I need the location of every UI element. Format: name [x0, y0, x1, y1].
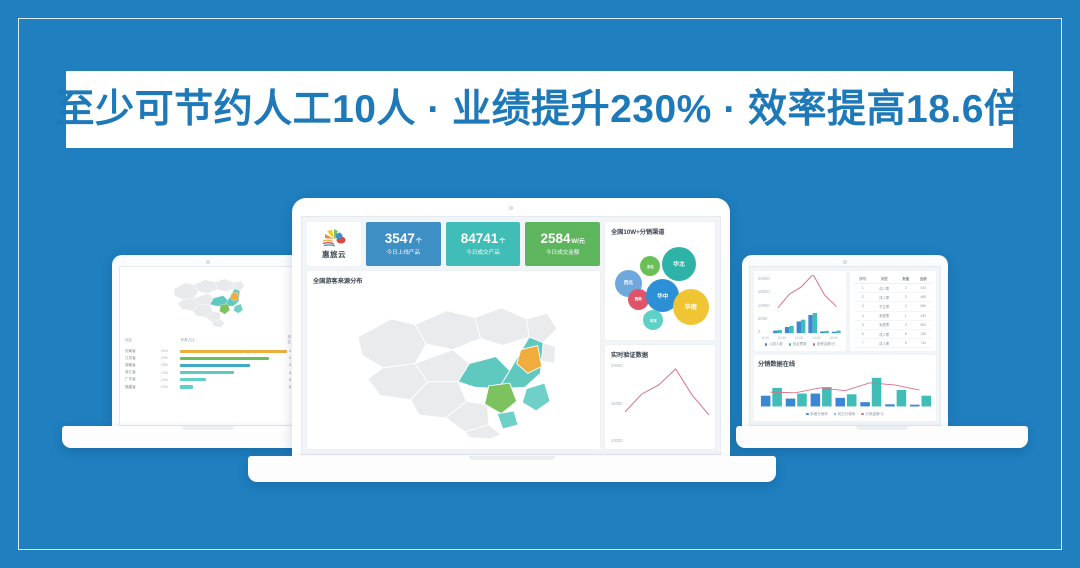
kpi-unit: W/元: [572, 239, 585, 245]
region-pct: 15%: [161, 376, 181, 383]
left-region-ranking-table: 地区 来源占比 排名 河南省20%1江苏省20%2湖南省20%3浙江省15%4广…: [125, 335, 291, 421]
table-column-header: 序号: [854, 274, 871, 284]
region-name: 浙江省: [125, 369, 161, 376]
table-header-row: 序号类型数量金额: [854, 274, 932, 284]
bubble-5[interactable]: 华南: [673, 289, 709, 325]
cell-type: 学生票: [871, 302, 897, 311]
distribution-legend: 新增分销商成交分销商分销金额/元: [758, 412, 932, 417]
cell-amt: 710: [914, 339, 932, 348]
center-laptop-lid: 惠旅云 3547个今日上线产品84741个今日成交产品2584W/元今日成交金额…: [292, 198, 730, 460]
kpi-card-1: 84741个今日成交产品: [446, 222, 521, 266]
right-laptop-screen: 20000150001000050000 8:0010:0012:0014:00…: [749, 266, 941, 426]
cell-no: 6: [854, 329, 871, 338]
region-name: 广东省: [125, 376, 161, 383]
table-row: 7成人票6710: [854, 339, 932, 348]
pinwheel-logo-icon: [319, 228, 349, 248]
x-tick: 16:00: [829, 336, 838, 340]
kpi-label: 今日成交金额: [546, 248, 580, 256]
y-tick: 10000: [758, 303, 770, 308]
combo-x-axis: 8:0010:0012:0014:0016:00: [758, 336, 842, 340]
region-bar: [180, 371, 234, 374]
cell-type: 成人票: [871, 329, 897, 338]
kpi-unit: 个: [499, 239, 505, 245]
cell-no: 3: [854, 302, 871, 311]
table-row: 5家庭票2500: [854, 320, 932, 329]
trackpad-notch: [469, 456, 555, 460]
cell-amt: 460: [914, 293, 932, 302]
col-region: 地区: [125, 335, 161, 348]
map-region-green: [484, 383, 516, 414]
table-row: 福建省15%6: [125, 383, 291, 390]
cell-no: 7: [854, 339, 871, 348]
map-region-teal-3: [522, 383, 550, 411]
cell-amt: 500: [914, 320, 932, 329]
table-row: 广东省15%5: [125, 376, 291, 383]
bubble-6[interactable]: 华东: [643, 310, 663, 330]
x-tick: 12:00: [795, 336, 804, 340]
cell-qty: 6: [897, 339, 914, 348]
y-tick: 20000: [611, 363, 623, 368]
region-rank: 2: [287, 355, 291, 362]
cell-amt: 432: [914, 311, 932, 320]
region-bar-cell: [180, 355, 287, 362]
cell-type: 家庭票: [871, 320, 897, 329]
region-pct: 15%: [161, 383, 181, 390]
center-laptop: 惠旅云 3547个今日上线产品84741个今日成交产品2584W/元今日成交金额…: [292, 198, 730, 460]
realtime-verification-panel: 实时验证数据 200001500010000: [605, 345, 715, 449]
kpi-value: 84741个: [461, 232, 506, 246]
dashboard-main-column: 惠旅云 3547个今日上线产品84741个今日成交产品2584W/元今日成交金额…: [307, 222, 600, 449]
cell-amt: 560: [914, 302, 932, 311]
cell-type: 家庭票: [871, 311, 897, 320]
kpi-value: 3547个: [385, 232, 422, 246]
region-name: 福建省: [125, 383, 161, 390]
laptop-mockup-stage: 地区 来源占比 排名 河南省20%1江苏省20%2湖南省20%3浙江省15%4广…: [0, 160, 1080, 510]
cell-type: 成人票: [871, 284, 897, 293]
table-body: 1成人票24102成人票34603学生票25604家庭票14325家庭票2500…: [854, 284, 932, 348]
left-laptop-lid: 地区 来源占比 排名 河南省20%1江苏省20%2湖南省20%3浙江省15%4广…: [112, 255, 304, 430]
ticket-detail-table: 序号类型数量金额 1成人票24102成人票34603学生票25604家庭票143…: [850, 271, 936, 351]
kpi-label: 今日上线产品: [387, 248, 421, 256]
region-rank: 1: [287, 348, 291, 355]
realtime-plot-area: [625, 362, 709, 444]
distribution-plot-area: [758, 371, 932, 410]
y-tick: 20000: [758, 276, 770, 281]
table-column-header: 数量: [897, 274, 914, 284]
region-bar-cell: [180, 376, 287, 383]
left-laptop-screen: 地区 来源占比 排名 河南省20%1江苏省20%2湖南省20%3浙江省15%4广…: [119, 266, 297, 426]
table-row: 4家庭票1432: [854, 311, 932, 320]
x-tick: 10:00: [777, 336, 786, 340]
region-bar-cell: [180, 348, 287, 355]
region-rank: 4: [287, 369, 291, 376]
y-tick: 15000: [611, 401, 623, 406]
left-laptop: 地区 来源占比 排名 河南省20%1江苏省20%2湖南省20%3浙江省15%4广…: [112, 255, 304, 430]
realtime-chart: 200001500010000: [611, 362, 709, 444]
distribution-panel-title: 分销数据在线: [758, 359, 932, 368]
region-name: 江苏省: [125, 355, 161, 362]
combo-y-axis: 20000150001000050000: [758, 275, 770, 335]
kpi-card-2: 2584W/元今日成交金额: [525, 222, 600, 266]
x-tick: 14:00: [812, 336, 821, 340]
dashboard-header: 惠旅云 3547个今日上线产品84741个今日成交产品2584W/元今日成交金额: [307, 222, 600, 266]
right-laptop-lid: 20000150001000050000 8:0010:0012:0014:00…: [742, 255, 948, 430]
table-column-header: 类型: [871, 274, 897, 284]
region-bar-cell: [180, 362, 287, 369]
webcam-icon: [843, 260, 847, 264]
cell-qty: 2: [897, 302, 914, 311]
col-rank: 排名: [287, 335, 291, 348]
trackpad-notch: [182, 426, 234, 430]
legend-item[interactable]: 成交分销商: [834, 412, 856, 417]
cell-qty: 3: [897, 293, 914, 302]
region-pct: 15%: [161, 369, 181, 376]
trackpad-notch: [856, 426, 908, 430]
cell-qty: 2: [897, 284, 914, 293]
headline-text: 至少可节约人工10人 · 业绩提升230% · 效率提高18.6倍: [56, 90, 1024, 129]
cell-no: 4: [854, 311, 871, 320]
park-combo-chart-panel: 20000150001000050000 8:0010:0012:0014:00…: [754, 271, 846, 351]
table-header-row: 地区 来源占比 排名: [125, 335, 291, 348]
ranking-rows: 河南省20%1江苏省20%2湖南省20%3浙江省15%4广东省15%5福建省15…: [125, 348, 291, 391]
region-rank: 3: [287, 362, 291, 369]
left-china-map: [125, 271, 291, 331]
webcam-icon: [509, 206, 513, 210]
china-map: [313, 288, 594, 444]
table-row: 湖南省20%3: [125, 362, 291, 369]
legend-item[interactable]: 入园人数: [765, 342, 783, 347]
bubble-chart: 华北东北西北西南华中华南华东: [611, 239, 709, 335]
headline-banner: 至少可节约人工10人 · 业绩提升230% · 效率提高18.6倍: [66, 71, 1013, 148]
map-panel-title: 全国游客来源分布: [313, 276, 594, 285]
right-top-row: 20000150001000050000 8:0010:0012:0014:00…: [754, 271, 936, 351]
map-highlight-green: [219, 304, 229, 314]
dashboard-side-column: 全国10W+分销渠道 华北东北西北西南华中华南华东 实时验证数据 2000015…: [605, 222, 715, 449]
legend-item[interactable]: 新增分销商: [806, 412, 828, 417]
table-row: 1成人票2410: [854, 284, 932, 293]
region-bar: [180, 364, 250, 367]
bubble-panel-title: 全国10W+分销渠道: [611, 227, 709, 236]
y-tick: 5000: [758, 316, 770, 321]
channel-bubble-panel: 全国10W+分销渠道 华北东北西北西南华中华南华东: [605, 222, 715, 340]
table-row: 2成人票3460: [854, 293, 932, 302]
cell-type: 成人票: [871, 293, 897, 302]
region-bar-cell: [180, 383, 287, 390]
region-bar: [180, 385, 193, 388]
kpi-card-0: 3547个今日上线产品: [366, 222, 441, 266]
center-laptop-base: [248, 456, 776, 482]
cell-no: 1: [854, 284, 871, 293]
webcam-icon: [206, 260, 210, 264]
right-laptop: 20000150001000050000 8:0010:0012:0014:00…: [742, 255, 948, 430]
cell-amt: 130: [914, 329, 932, 338]
table-row: 江苏省20%2: [125, 355, 291, 362]
region-pct: 20%: [161, 362, 181, 369]
cell-type: 成人票: [871, 339, 897, 348]
region-pct: 20%: [161, 355, 181, 362]
brand-name: 惠旅云: [322, 249, 346, 260]
region-pct: 20%: [161, 348, 181, 355]
center-laptop-screen: 惠旅云 3547个今日上线产品84741个今日成交产品2584W/元今日成交金额…: [301, 216, 721, 455]
legend-item[interactable]: 验证票数: [789, 342, 807, 347]
region-bar-cell: [180, 369, 287, 376]
distribution-online-panel: 分销数据在线 新增分销商成交分销商分销金额/元: [754, 355, 936, 421]
table-row: 浙江省15%4: [125, 369, 291, 376]
kpi-unit: 个: [416, 239, 422, 245]
region-bar: [180, 357, 269, 360]
cell-qty: 8: [897, 329, 914, 338]
region-rank: 6: [287, 383, 291, 390]
bubble-1[interactable]: 东北: [640, 256, 660, 276]
table-row: 6成人票8130: [854, 329, 932, 338]
y-tick: 15000: [758, 289, 770, 294]
bubble-0[interactable]: 华北: [662, 247, 696, 281]
table-row: 河南省20%1: [125, 348, 291, 355]
y-tick: 10000: [611, 438, 623, 443]
cell-qty: 1: [897, 311, 914, 320]
y-tick: 0: [758, 329, 770, 334]
region-bar: [180, 378, 206, 381]
col-share: 来源占比: [180, 335, 287, 348]
x-tick: 8:00: [762, 336, 769, 340]
region-rank: 5: [287, 376, 291, 383]
cell-amt: 410: [914, 284, 932, 293]
kpi-label: 今日成交产品: [466, 248, 500, 256]
cell-no: 2: [854, 293, 871, 302]
table-column-header: 金额: [914, 274, 932, 284]
kpi-cards: 3547个今日上线产品84741个今日成交产品2584W/元今日成交金额: [366, 222, 600, 266]
brand-logo: 惠旅云: [307, 222, 361, 266]
realtime-panel-title: 实时验证数据: [611, 350, 709, 359]
cell-no: 5: [854, 320, 871, 329]
legend-item[interactable]: 销售金额/元: [813, 342, 836, 347]
legend-item[interactable]: 分销金额/元: [861, 412, 884, 417]
right-laptop-base: [736, 426, 1028, 448]
table-row: 3学生票2560: [854, 302, 932, 311]
combo-plot-area: [772, 275, 842, 335]
cell-qty: 2: [897, 320, 914, 329]
combo-legend: 入园人数验证票数销售金额/元: [758, 342, 842, 347]
region-bar: [180, 350, 287, 353]
kpi-value: 2584W/元: [540, 232, 584, 246]
region-name: 河南省: [125, 348, 161, 355]
visitor-source-map-panel: 全国游客来源分布: [307, 271, 600, 449]
realtime-y-axis: 200001500010000: [611, 362, 623, 444]
region-name: 湖南省: [125, 362, 161, 369]
